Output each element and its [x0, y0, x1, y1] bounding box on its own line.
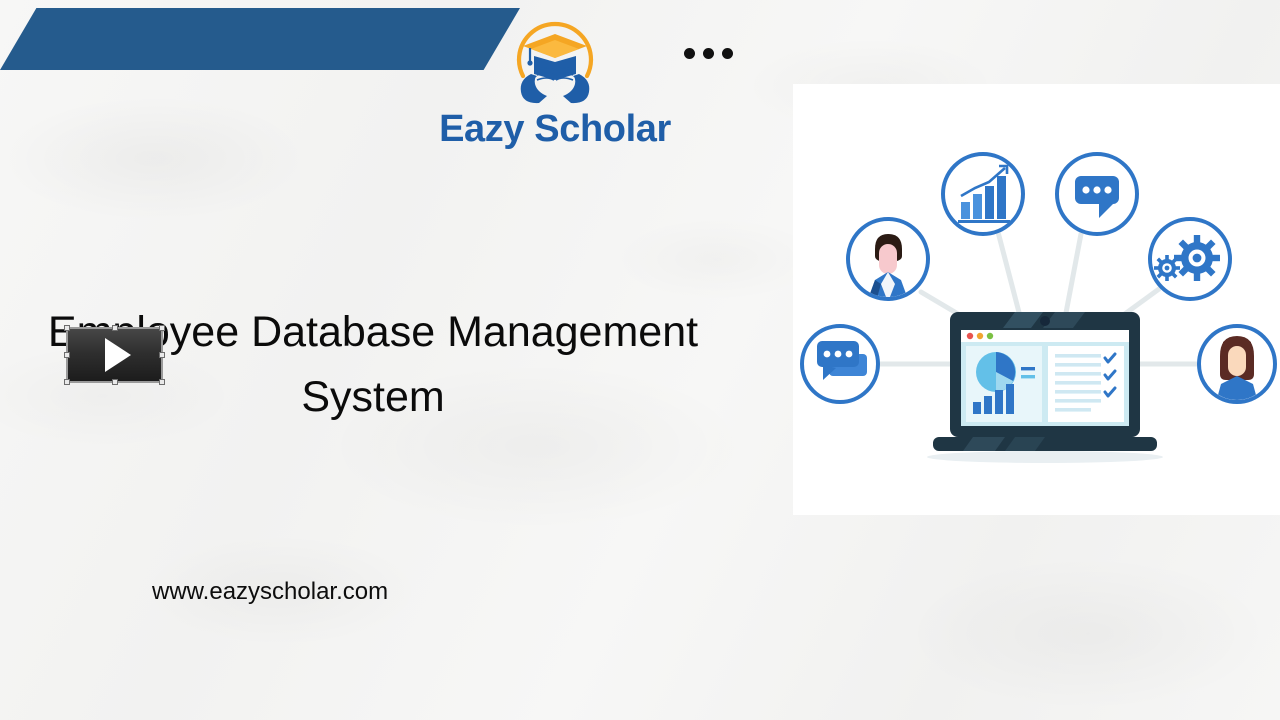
- resize-handle-bottom-right[interactable]: [159, 379, 165, 385]
- ellipsis-dot-3: [722, 48, 733, 59]
- node-chat-bubble-icon: [1057, 154, 1137, 234]
- ellipsis-dot-2: [703, 48, 714, 59]
- brand-logo: Eazy Scholar: [430, 8, 680, 148]
- resize-handle-left-middle[interactable]: [64, 352, 70, 358]
- node-chat-bubbles-double-icon: [802, 326, 878, 402]
- ellipsis-menu-icon[interactable]: [684, 48, 733, 59]
- resize-handle-bottom-left[interactable]: [64, 379, 70, 385]
- play-triangle-icon: [105, 338, 131, 372]
- node-growth-bar-chart-icon: [943, 154, 1023, 234]
- graduation-cap-book-hands-logo-icon: [501, 8, 609, 108]
- node-user-male-avatar-icon: [848, 219, 928, 302]
- presentation-slide: Eazy Scholar Employee Database Managemen…: [0, 0, 1280, 720]
- brand-wordmark: Eazy Scholar: [430, 110, 680, 148]
- resize-handle-bottom-middle[interactable]: [112, 379, 118, 385]
- resize-handle-right-middle[interactable]: [159, 352, 165, 358]
- network-collaboration-illustration: [793, 84, 1280, 515]
- node-gears-settings-icon: [1149, 219, 1230, 299]
- ellipsis-dot-1: [684, 48, 695, 59]
- play-video-button[interactable]: [66, 327, 163, 383]
- illustration-panel: [793, 84, 1280, 515]
- node-user-female-avatar-icon: [1199, 326, 1275, 406]
- website-url[interactable]: www.eazyscholar.com: [152, 578, 388, 606]
- resize-handle-top-right[interactable]: [159, 325, 165, 331]
- laptop-dashboard: [927, 312, 1163, 463]
- resize-handle-top-middle[interactable]: [112, 325, 118, 331]
- resize-handle-top-left[interactable]: [64, 325, 70, 331]
